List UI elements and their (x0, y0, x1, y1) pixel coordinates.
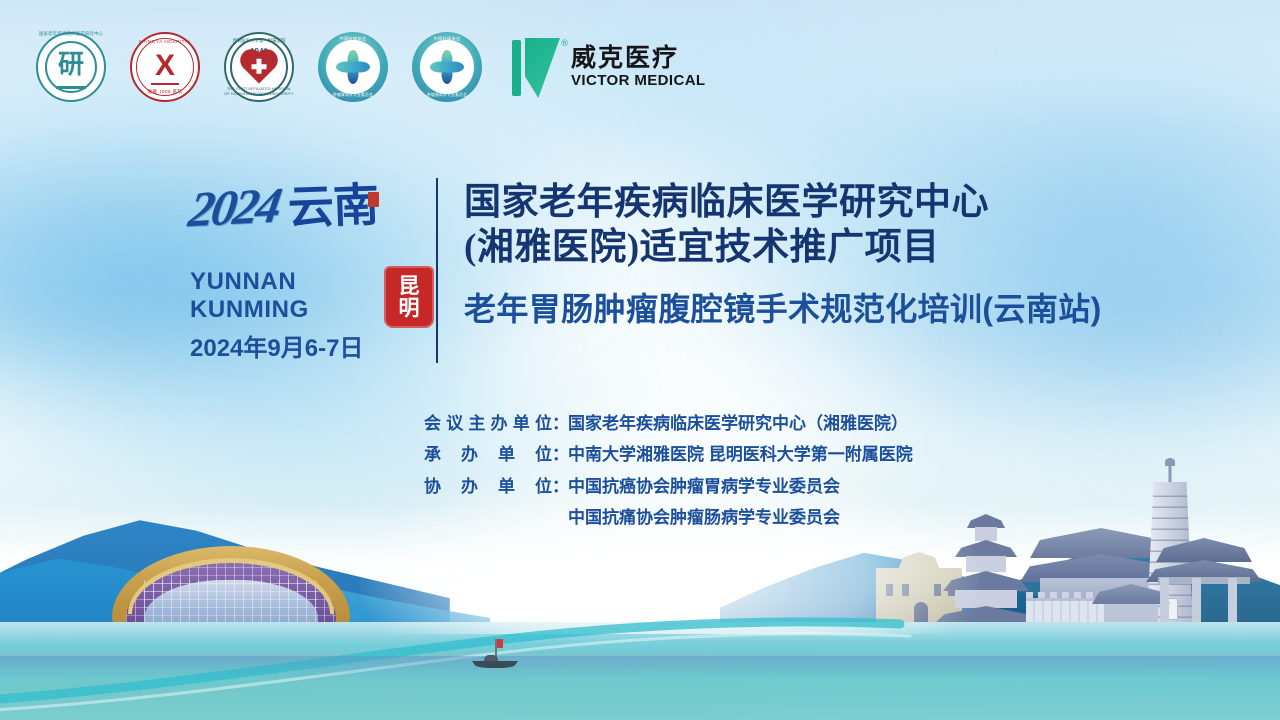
victor-v-mark-icon: ® (512, 36, 560, 98)
title-subtitle: 老年胃肠肿瘤腹腔镜手术规范化培训(云南站) (464, 284, 1102, 330)
kmu-bottom-text: THE FIRST AFFILIATED HOSPITAL OF KUNMING… (224, 86, 294, 96)
caca-intestinal-bottom-text: 肿瘤肠病学专业委员会 (412, 93, 482, 98)
medical-plus-icon (336, 50, 370, 84)
memorial-archway (1148, 538, 1260, 624)
title-text-block: 国家老年疾病临床医学研究中心 (湘雅医院)适宜技术推广项目 老年胃肠肿瘤腹腔镜手… (464, 178, 1102, 363)
organizer-value-coorganizer: 中国抗癌协会肿瘤胃病学专业委员会 (568, 471, 840, 502)
organizer-value-coorganizer-line2: 中国抗痛协会肿瘤肠病学专业委员会 (424, 502, 913, 533)
conference-banner: 国家老年疾病临床医学研究中心 研 XIANGYA HOSPITAL X 湘雅 1… (0, 0, 1280, 720)
victor-medical-name-en: VICTOR MEDICAL (571, 73, 706, 89)
partner-logo-strip: 国家老年疾病临床医学研究中心 研 XIANGYA HOSPITAL X 湘雅 1… (36, 30, 706, 104)
year-calligraphy: 2024 (186, 180, 283, 235)
organizer-row-host: 会 议 主 办 单 位 ： 国家老年疾病临床医学研究中心（湘雅医院） (424, 408, 913, 439)
xiangya-bottom-text: 湘雅 1906 医院 (130, 89, 200, 95)
title-block: 2024 云南 YUNNAN KUNMING 2024年9月6-7日 昆 明 国… (190, 178, 1102, 363)
calligraphy-row: 2024 云南 (190, 182, 418, 262)
seal-char-top: 昆 (399, 275, 420, 297)
boat-flag-icon (497, 639, 503, 648)
caca-gastric-bottom-text: 肿瘤胃病学专业委员会 (318, 93, 388, 98)
seal-char-bottom: 明 (399, 297, 420, 319)
kmu-top-text: 昆明医科大学第一附属医院 (224, 38, 294, 44)
chinese-anti-cancer-association-intestinal-logo: 中国抗痛协会 肿瘤肠病学专业委员会 (412, 32, 482, 102)
national-clinical-research-center-logo: 国家老年疾病临床医学研究中心 研 (36, 32, 106, 102)
organizer-label-host: 会 议 主 办 单 位 (424, 408, 552, 439)
event-identity-block: 2024 云南 YUNNAN KUNMING 2024年9月6-7日 昆 明 (190, 178, 418, 363)
registered-trademark-symbol: ® (561, 38, 568, 48)
xiangya-hospital-logo: XIANGYA HOSPITAL X 湘雅 1906 医院 (130, 32, 200, 102)
title-divider (436, 178, 438, 363)
chinese-anti-cancer-association-gastric-logo: 中国抗癌协会 肿瘤胃病学专业委员会 (318, 32, 388, 102)
title-line-1: 国家老年疾病临床医学研究中心 (464, 180, 1102, 225)
victor-medical-logo: ® 威克医疗 VICTOR MEDICAL (512, 36, 706, 98)
event-date: 2024年9月6-7日 (190, 328, 418, 363)
province-calligraphy: 云南 (287, 182, 379, 231)
kunming-medical-university-first-affiliated-hospital-logo: 昆明医科大学第一附属医院 1941 THE FIRST AFFILIATED H… (224, 32, 294, 102)
organizer-block: 会 议 主 办 单 位 ： 国家老年疾病临床医学研究中心（湘雅医院） 承 办 单… (424, 408, 913, 534)
xiangya-mark: X (155, 51, 175, 81)
organizer-label-coorganizer: 协 办 单 位 (424, 471, 552, 502)
kunming-convention-center (112, 542, 350, 624)
fishing-boat (470, 638, 520, 672)
multi-tier-pagoda (934, 514, 1038, 624)
mini-seal-stamp (368, 192, 379, 207)
title-line-2: (湘雅医院)适宜技术推广项目 (464, 225, 1102, 270)
dali-skyline-cluster (876, 452, 1256, 624)
organizer-row-coorganizer: 协 办 单 位 ： 中国抗癌协会肿瘤胃病学专业委员会 (424, 471, 913, 502)
organizer-row-undertaker: 承 办 单 位 ： 中南大学湘雅医院 昆明医科大学第一附属医院 (424, 439, 913, 470)
victor-medical-name-cn: 威克医疗 (571, 45, 706, 71)
research-center-mark: 研 (58, 51, 84, 77)
balustrade-reflection (0, 656, 1280, 678)
xiangya-top-text: XIANGYA HOSPITAL (130, 39, 200, 44)
organizer-label-undertaker: 承 办 单 位 (424, 439, 552, 470)
organizer-value-undertaker: 中南大学湘雅医院 昆明医科大学第一附属医院 (568, 439, 913, 470)
kunming-seal-stamp: 昆 明 (384, 266, 434, 328)
medical-plus-icon (430, 50, 464, 84)
organizer-value-host: 国家老年疾病临床医学研究中心（湘雅医院） (568, 408, 908, 439)
